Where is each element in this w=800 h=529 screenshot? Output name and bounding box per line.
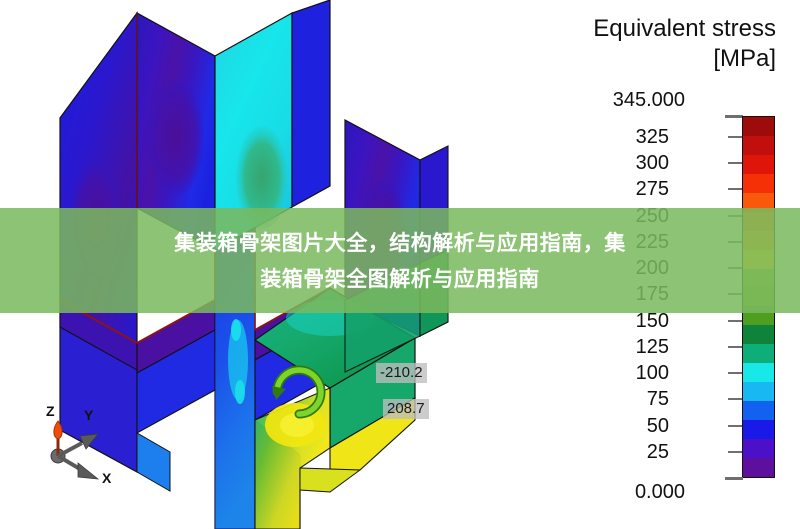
watermark-line-1: 集装箱骨架图片大全，结构解析与应用指南，集 xyxy=(174,225,626,261)
legend-title: Equivalent stress [MPa] xyxy=(566,14,776,74)
colorbar-band xyxy=(743,117,774,136)
colorbar-band xyxy=(743,363,774,382)
colorbar-band xyxy=(743,325,774,344)
axis-label-y: Y xyxy=(84,407,93,423)
colorbar-band xyxy=(743,458,774,477)
annotation-moment-negative[interactable]: -210.2 xyxy=(376,363,427,383)
colorbar-band xyxy=(743,136,774,155)
colorbar-cap-bottom xyxy=(725,477,743,480)
colorbar-cap-top xyxy=(725,115,743,118)
colorbar-band xyxy=(743,401,774,420)
axis-triad[interactable]: Z Y X xyxy=(20,385,140,495)
colorbar-tick xyxy=(728,320,742,322)
axis-label-x: X xyxy=(102,470,111,486)
fea-stress-plot: -210.2 208.7 Z Y X Equivalen xyxy=(0,0,800,529)
colorbar-tick-label: 325 xyxy=(636,127,669,147)
colorbar-tick-label: 50 xyxy=(647,416,669,436)
colorbar-tick-label: 300 xyxy=(636,153,669,173)
colorbar-band xyxy=(743,344,774,363)
colorbar-band xyxy=(743,439,774,458)
colorbar-tick-label: 150 xyxy=(636,311,669,331)
colorbar-band xyxy=(743,174,774,193)
colorbar-tick-label: 25 xyxy=(647,442,669,462)
watermark-line-2: 装箱骨架全图解析与应用指南 xyxy=(260,261,540,297)
watermark-text: 集装箱骨架图片大全，结构解析与应用指南，集 装箱骨架全图解析与应用指南 xyxy=(0,208,800,313)
colorbar-tick-label: 275 xyxy=(636,179,669,199)
colorbar-tick xyxy=(728,451,742,453)
legend-unit-text: [MPa] xyxy=(566,44,776,74)
colorbar-band xyxy=(743,155,774,174)
colorbar-tick-label: 75 xyxy=(647,389,669,409)
colorbar-tick-label: 125 xyxy=(636,337,669,357)
colorbar-tick xyxy=(728,425,742,427)
colorbar-band xyxy=(743,420,774,439)
colorbar-min-label: 0.000 xyxy=(635,481,685,504)
axis-triad-glyph xyxy=(20,385,140,495)
legend-title-text: Equivalent stress xyxy=(593,15,776,42)
colorbar-max-label: 345.000 xyxy=(613,89,685,112)
colorbar-tick xyxy=(728,398,742,400)
colorbar-tick xyxy=(728,162,742,164)
colorbar-tick-label: 100 xyxy=(636,363,669,383)
axis-label-z: Z xyxy=(46,403,55,419)
colorbar-tick xyxy=(728,188,742,190)
annotation-moment-positive[interactable]: 208.7 xyxy=(383,399,429,419)
colorbar-tick xyxy=(728,372,742,374)
colorbar-tick xyxy=(728,346,742,348)
colorbar-band xyxy=(743,382,774,401)
colorbar-tick xyxy=(728,136,742,138)
